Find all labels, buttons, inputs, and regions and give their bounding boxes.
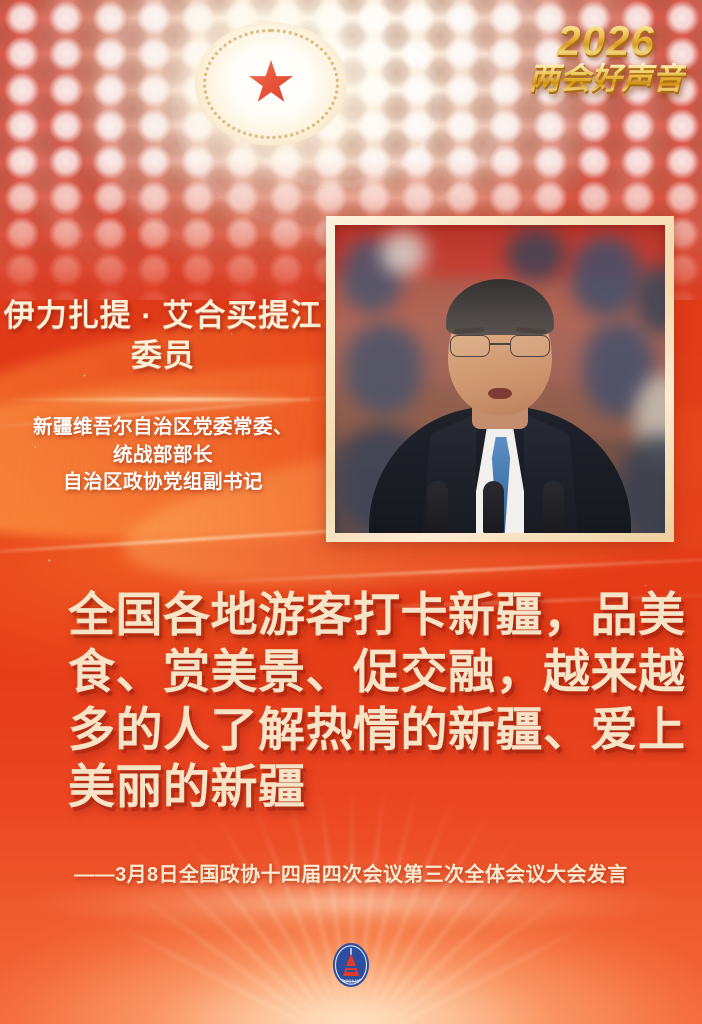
- logo-year-text: 2026: [526, 20, 686, 62]
- microphone-icon: [543, 481, 564, 533]
- speaker-role-line-3: 自治区政协党组副书记: [0, 469, 326, 497]
- glasses-lens-right: [510, 335, 550, 357]
- speaker-mouth: [488, 388, 512, 399]
- quote-line-2: 食、赏美景、促交融，越来越: [68, 643, 648, 700]
- xinhua-agency-logo: XINHUA: [330, 940, 372, 990]
- speaker-name-block: 伊力扎提 · 艾合买提江 委员: [0, 296, 326, 375]
- blurred-audience: [345, 323, 423, 415]
- microphone-icon: [483, 481, 504, 533]
- speaker-role-line-2: 统战部部长: [0, 442, 326, 470]
- blurred-audience: [571, 237, 641, 317]
- quote-attribution: ——3月8日全国政协十四届四次会议第三次全体会议大会发言: [0, 858, 702, 887]
- svg-text:XINHUA: XINHUA: [343, 979, 359, 984]
- glasses-bridge: [490, 343, 510, 345]
- speaker-title: 委员: [0, 336, 326, 376]
- name-underline-glow: [10, 397, 310, 402]
- quote-line-4: 美丽的新疆: [68, 758, 648, 815]
- quote-block: 全国各地游客打卡新疆，品美 食、赏美景、促交融，越来越 多的人了解热情的新疆、爱…: [68, 586, 648, 815]
- blurred-audience: [381, 231, 427, 275]
- event-logo: 2026 两会好声音: [526, 20, 686, 96]
- microphone-icon: [427, 481, 448, 533]
- quote-line-1: 全国各地游客打卡新疆，品美: [68, 586, 648, 643]
- speaker-glasses-icon: [448, 335, 552, 357]
- poster-root: 2026 两会好声音: [0, 0, 702, 1024]
- portrait-frame: [326, 216, 674, 542]
- speaker-role-line-1: 新疆维吾尔自治区党委常委、: [0, 414, 326, 442]
- speaker-photo: [335, 225, 665, 533]
- speaker-role-block: 新疆维吾尔自治区党委常委、 统战部部长 自治区政协党组副书记: [0, 414, 326, 497]
- blurred-audience: [507, 229, 565, 281]
- speaker-name: 伊力扎提 · 艾合买提江: [0, 296, 326, 336]
- logo-slogan-text: 两会好声音: [526, 63, 686, 96]
- quote-line-3: 多的人了解热情的新疆、爱上: [68, 701, 648, 758]
- glasses-lens-left: [450, 335, 490, 357]
